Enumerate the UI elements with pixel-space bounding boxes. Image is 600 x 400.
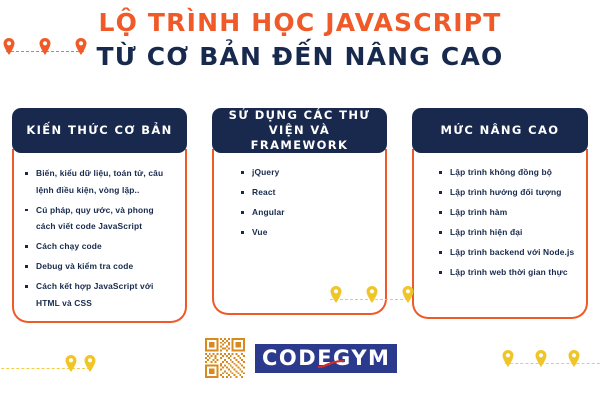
list-item: Angular [240, 205, 375, 219]
pin-track-middle [330, 281, 408, 303]
card-heading: SỬ DỤNG CÁC THƯ VIỆN VÀ FRAMEWORK [212, 108, 387, 153]
brand-footer: CODEGYM [205, 338, 397, 378]
list-item: Cách kết hợp JavaScript với HTML và CSS [24, 278, 175, 311]
title-line-secondary: TỪ CƠ BẢN ĐẾN NÂNG CAO [0, 41, 600, 73]
infographic-poster: LỘ TRÌNH HỌC JAVASCRIPT TỪ CƠ BẢN ĐẾN NÂ… [0, 0, 600, 400]
list-item: Cú pháp, quy ước, và phong cách viết cod… [24, 202, 175, 235]
card-bullet-list: Biến, kiểu dữ liệu, toán tử, câu lệnh đi… [24, 165, 175, 311]
list-item: Debug và kiểm tra code [24, 258, 175, 275]
list-item: Lập trình backend với Node.js [438, 245, 576, 259]
card-body: Lập trình không đồng bộ Lập trình hướng … [412, 149, 588, 319]
card-bullet-list: Lập trình không đồng bộ Lập trình hướng … [424, 165, 576, 279]
codegym-logo-text: CODEGYM [262, 347, 390, 369]
card-row: KIẾN THỨC CƠ BẢN Biến, kiểu dữ liệu, toá… [0, 108, 600, 323]
map-pin-icon [569, 350, 580, 367]
map-pin-icon [331, 286, 342, 303]
card-body: Biến, kiểu dữ liệu, toán tử, câu lệnh đi… [12, 149, 187, 323]
list-item: Lập trình không đồng bộ [438, 165, 576, 179]
map-pin-icon [367, 286, 378, 303]
list-item: Lập trình hàm [438, 205, 576, 219]
title-line-primary: LỘ TRÌNH HỌC JAVASCRIPT [0, 8, 600, 38]
card-bullet-list: jQuery React Angular Vue [224, 165, 375, 239]
map-pin-icon [66, 355, 77, 372]
map-pin-icon [536, 350, 547, 367]
list-item: Lập trình hiện đại [438, 225, 576, 239]
map-pin-icon [503, 350, 514, 367]
pin-track-bottom-left [0, 350, 90, 372]
map-pin-icon [403, 286, 414, 303]
poster-title: LỘ TRÌNH HỌC JAVASCRIPT TỪ CƠ BẢN ĐẾN NÂ… [0, 8, 600, 73]
list-item: React [240, 185, 375, 199]
card-heading: KIẾN THỨC CƠ BẢN [12, 108, 187, 153]
map-pin-icon [85, 355, 96, 372]
list-item: jQuery [240, 165, 375, 179]
list-item: Biến, kiểu dữ liệu, toán tử, câu lệnh đi… [24, 165, 175, 198]
list-item: Vue [240, 225, 375, 239]
card-kien-thuc-co-ban: KIẾN THỨC CƠ BẢN Biến, kiểu dữ liệu, toá… [12, 108, 187, 323]
codegym-logo: CODEGYM [255, 344, 397, 373]
card-heading: MỨC NÂNG CAO [412, 108, 588, 153]
dotted-line [505, 363, 600, 364]
qr-code-icon [205, 338, 245, 378]
list-item: Lập trình web thời gian thực [438, 265, 576, 279]
list-item: Lập trình hướng đối tượng [438, 185, 576, 199]
list-item: Cách chạy code [24, 238, 175, 255]
card-muc-nang-cao: MỨC NÂNG CAO Lập trình không đồng bộ Lập… [412, 108, 588, 319]
pin-track-bottom-right [505, 345, 600, 367]
